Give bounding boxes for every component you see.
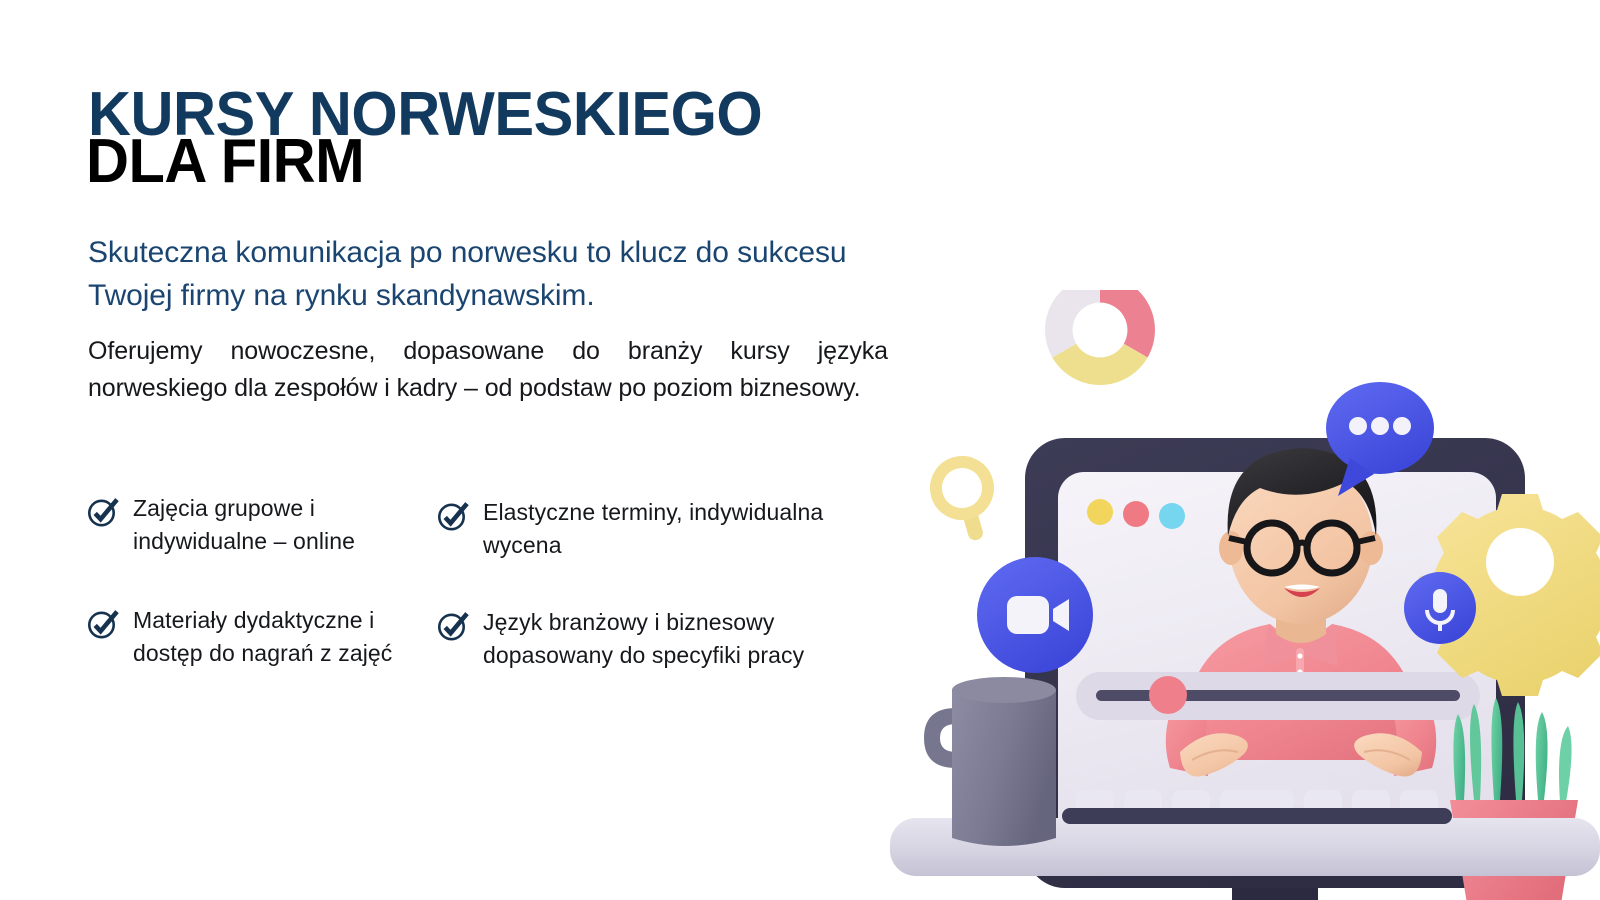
hero-illustration [880,290,1600,900]
feature-item-terminy: Elastyczne terminy, indywidualna wycena [436,496,866,561]
feature-item-materialy: Materiały dydaktyczne i dostęp do nagrań… [86,604,446,669]
microphone-icon [1404,572,1476,644]
text-column: KURSY NORWESKIEGO DLA FIRM Skuteczna kom… [86,0,916,900]
feature-label: Zajęcia grupowe i indywidualne – online [133,492,446,557]
feature-item-branzowy: Język branżowy i biznesowy dopasowany do… [436,606,866,671]
magnifier-icon [930,456,1002,547]
feature-row-1: Zajęcia grupowe i indywidualne – online … [86,492,926,604]
window-dot-cyan [1159,503,1185,529]
feature-list: Zajęcia grupowe i indywidualne – online … [86,492,926,724]
feature-label: Materiały dydaktyczne i dostęp do nagrań… [133,604,446,669]
window-dots [1087,499,1185,529]
slide-root: KURSY NORWESKIEGO DLA FIRM Skuteczna kom… [0,0,1600,900]
check-circle-icon [436,608,470,642]
check-circle-icon [86,494,120,528]
subtitle-line1: Skuteczna komunikacja po norwesku to klu… [88,232,1078,275]
window-dot-yellow [1087,499,1113,525]
feature-item-grupowe: Zajęcia grupowe i indywidualne – online [86,492,446,557]
feature-label: Język branżowy i biznesowy dopasowany do… [483,606,866,671]
donut-chart-icon [1045,290,1155,385]
body-paragraph: Oferujemy nowoczesne, dopasowane do bran… [88,333,888,407]
progress-slider [1076,672,1480,720]
check-circle-icon [86,606,120,640]
slider-knob [1149,676,1187,714]
check-circle-icon [436,498,470,532]
feature-row-2: Materiały dydaktyczne i dostęp do nagrań… [86,604,926,724]
window-dot-pink [1123,501,1149,527]
page-title-line2: DLA FIRM [86,131,364,193]
feature-label: Elastyczne terminy, indywidualna wycena [483,496,866,561]
page-title: KURSY NORWESKIEGO DLA FIRM [86,84,916,204]
video-camera-icon [977,557,1093,673]
